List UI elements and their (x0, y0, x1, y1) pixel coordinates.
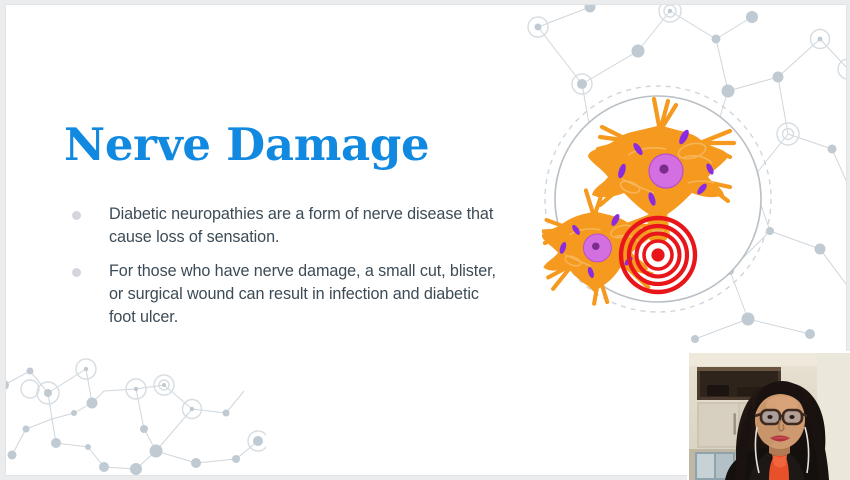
page-title: Nerve Damage (64, 121, 429, 168)
presenter-video-feed[interactable] (687, 351, 850, 480)
neuron-pain-signal-illustration (542, 83, 774, 315)
presenter-video-image (689, 353, 850, 480)
bullet-text: Diabetic neuropathies are a form of nerv… (109, 205, 493, 246)
list-item: For those who have nerve damage, a small… (66, 260, 496, 329)
bullet-dot-icon (72, 211, 81, 220)
pain-signal-center (651, 248, 664, 261)
bullet-list: Diabetic neuropathies are a form of nerv… (66, 203, 496, 340)
bullet-text: For those who have nerve damage, a small… (109, 262, 496, 326)
presentation-viewer: Nerve Damage Diabetic neuropathies are a… (0, 0, 850, 480)
list-item: Diabetic neuropathies are a form of nerv… (66, 203, 496, 249)
bullet-dot-icon (72, 268, 81, 277)
network-decoration-bottom-left (6, 351, 266, 475)
